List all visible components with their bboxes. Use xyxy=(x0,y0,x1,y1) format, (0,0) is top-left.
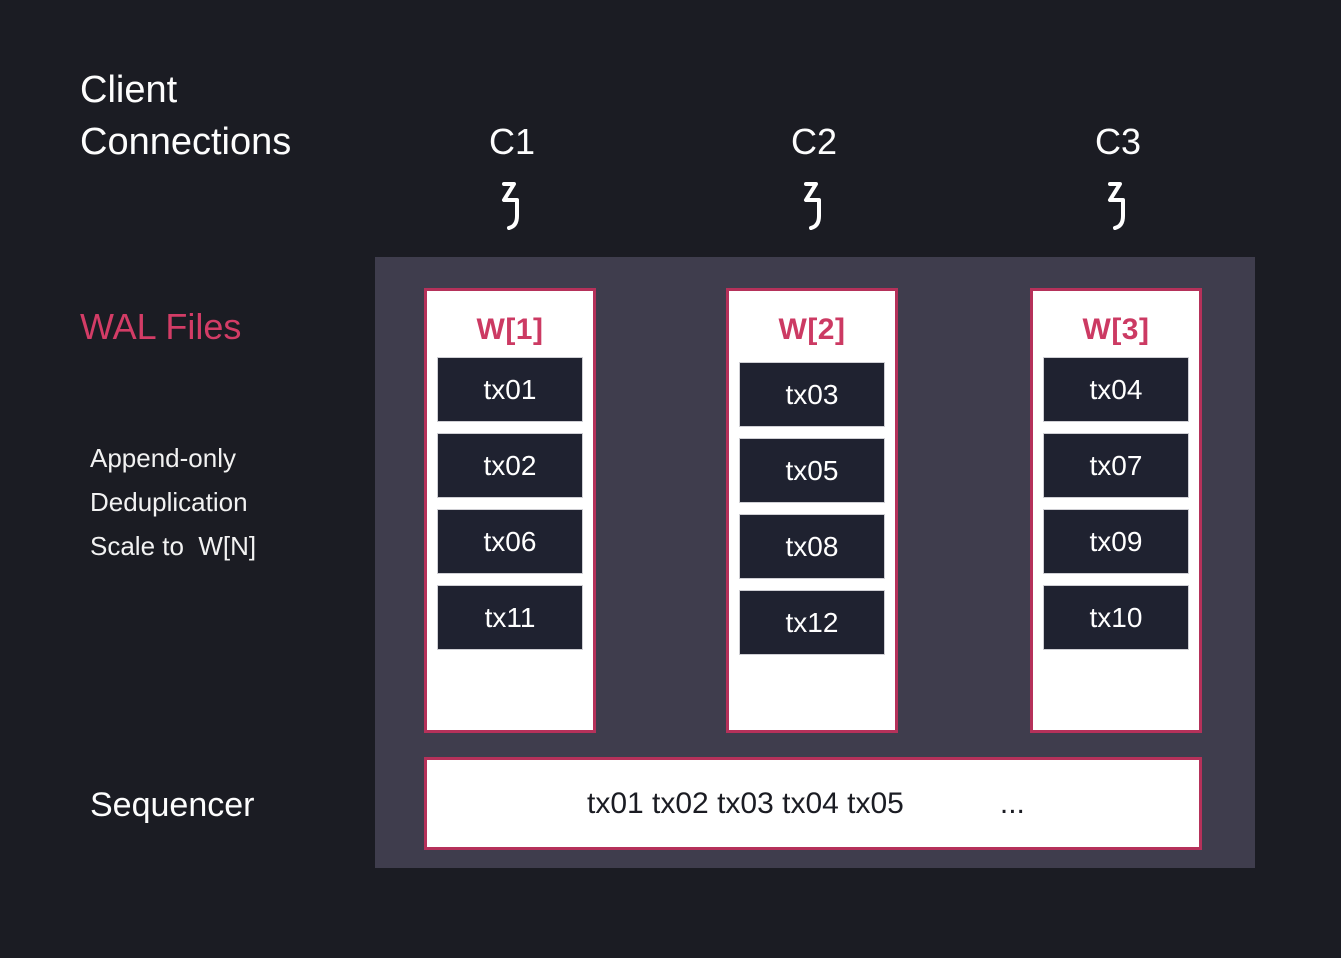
client-connection-c1: C1 xyxy=(432,120,592,236)
transaction-box: tx12 xyxy=(739,590,885,655)
transaction-box: tx01 xyxy=(437,357,583,422)
sequencer-label: Sequencer xyxy=(90,782,254,828)
transaction-box: tx11 xyxy=(437,585,583,650)
transaction-box: tx05 xyxy=(739,438,885,503)
wal-panel: W[1] tx01 tx02 tx06 tx11 W[2] tx03 tx05 … xyxy=(375,257,1255,868)
transaction-box: tx03 xyxy=(739,362,885,427)
sequencer-sequence-text: tx01 tx02 tx03 tx04 tx05 xyxy=(587,787,904,821)
wal-files-label: WAL Files xyxy=(80,304,241,350)
transaction-box: tx07 xyxy=(1043,433,1189,498)
transaction-box: tx02 xyxy=(437,433,583,498)
client-name-c2: C2 xyxy=(734,120,894,164)
transaction-box: tx08 xyxy=(739,514,885,579)
transaction-box: tx06 xyxy=(437,509,583,574)
client-name-c1: C1 xyxy=(432,120,592,164)
wal-file-title-2: W[2] xyxy=(779,313,846,347)
transaction-list-2: tx03 tx05 tx08 tx12 xyxy=(729,362,895,655)
wal-file-card-2: W[2] tx03 tx05 tx08 tx12 xyxy=(726,288,898,733)
client-connection-c3: C3 xyxy=(1038,120,1198,236)
client-name-c3: C3 xyxy=(1038,120,1198,164)
transaction-list-3: tx04 tx07 tx09 tx10 xyxy=(1033,357,1199,650)
squiggle-connector-icon xyxy=(1038,180,1198,236)
transaction-list-1: tx01 tx02 tx06 tx11 xyxy=(427,357,593,650)
client-connections-label: Client Connections xyxy=(80,64,291,168)
squiggle-connector-icon xyxy=(734,180,894,236)
wal-file-card-3: W[3] tx04 tx07 tx09 tx10 xyxy=(1030,288,1202,733)
sequencer-ellipsis: ... xyxy=(1000,787,1025,821)
client-connection-c2: C2 xyxy=(734,120,894,236)
wal-file-title-1: W[1] xyxy=(477,313,544,347)
transaction-box: tx04 xyxy=(1043,357,1189,422)
wal-properties-notes: Append-only Deduplication Scale to W[N] xyxy=(90,436,256,568)
transaction-box: tx09 xyxy=(1043,509,1189,574)
transaction-box: tx10 xyxy=(1043,585,1189,650)
squiggle-connector-icon xyxy=(432,180,592,236)
sequencer-bar: tx01 tx02 tx03 tx04 tx05 ... xyxy=(424,757,1202,850)
wal-file-card-1: W[1] tx01 tx02 tx06 tx11 xyxy=(424,288,596,733)
wal-file-title-3: W[3] xyxy=(1083,313,1150,347)
